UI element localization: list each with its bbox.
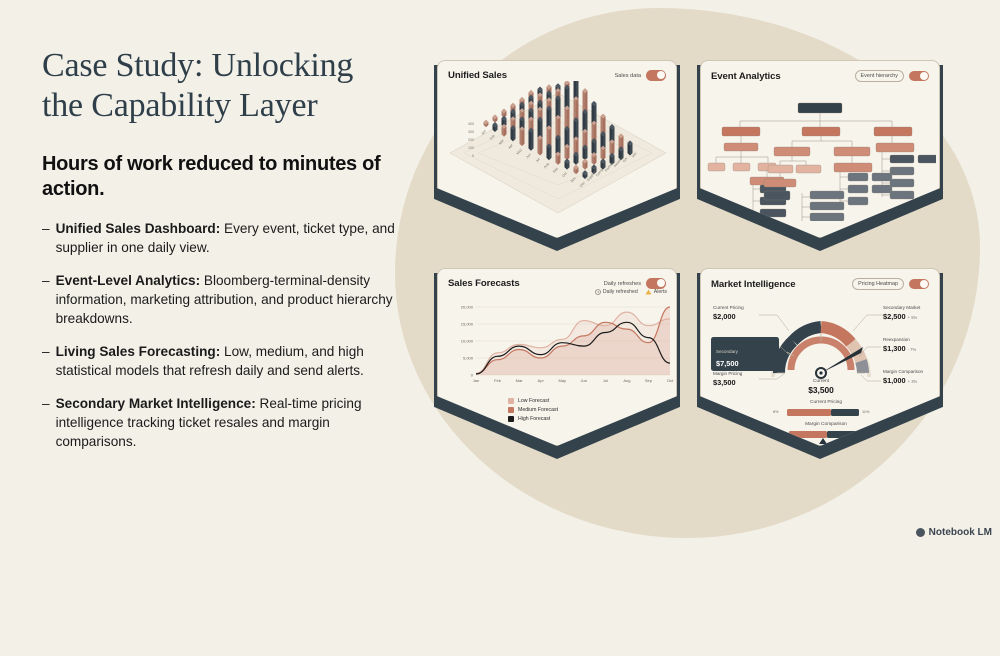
svg-text:Jun: Jun: [581, 378, 587, 383]
bullet-dash: –: [42, 272, 50, 328]
card-header-controls: Sales data: [615, 70, 666, 81]
forecast-legend: Low Forecast Medium Forecast High Foreca…: [508, 398, 558, 425]
metric-secondary-market: Secondary Market $2,500+ 5%: [883, 305, 920, 321]
svg-text:0: 0: [471, 372, 474, 377]
metric-value-text: $1,000: [883, 376, 906, 385]
metric-label: Margin Comparison: [883, 369, 923, 374]
list-item: – Secondary Market Intelligence: Real-ti…: [42, 395, 402, 451]
metric-label: Secondary Market: [883, 305, 920, 310]
metric-current-pricing: Current Pricing $2,000: [713, 305, 744, 321]
metric-secondary-highlight: Secondary $7,500: [711, 337, 779, 371]
legend-swatch-high: [508, 416, 514, 422]
metric-value-text: $1,300: [883, 344, 906, 353]
daily-refresh-toggle[interactable]: [646, 278, 666, 289]
feature-bullet-list: – Unified Sales Dashboard: Every event, …: [42, 220, 402, 451]
card-header-controls: Daily refreshes: [604, 278, 666, 289]
legend-swatch-low: [508, 398, 514, 404]
event-hierarchy-toggle[interactable]: [909, 71, 929, 82]
svg-text:20,000: 20,000: [461, 304, 474, 309]
svg-text:10,000: 10,000: [461, 338, 474, 343]
metric-value: $2,500+ 5%: [883, 312, 920, 321]
notebooklm-logo-icon: [916, 528, 925, 537]
svg-text:15,000: 15,000: [461, 321, 474, 326]
metric-label: Margin Pricing: [713, 371, 742, 376]
bullet-dash: –: [42, 395, 50, 451]
metric-margin-pricing: Margin Pricing $3,500: [713, 371, 742, 387]
bullet-text: Living Sales Forecasting: Low, medium, a…: [56, 343, 402, 380]
bullet-lead: Living Sales Forecasting:: [56, 344, 221, 359]
dashboard-card-grid: Unified Sales Sales data 400 300 200 100…: [437, 60, 957, 470]
metric-label: Secondary: [716, 349, 738, 354]
svg-text:300: 300: [468, 130, 474, 134]
legend-swatch-medium: [508, 407, 514, 413]
svg-text:100: 100: [468, 146, 474, 150]
svg-text:5,000: 5,000: [463, 355, 474, 360]
svg-text:Apr: Apr: [538, 378, 545, 383]
metric-value: $1,000+ 3%: [883, 376, 931, 385]
status-alerts-label: Alerts: [654, 289, 667, 295]
card-number: 1: [437, 228, 443, 240]
page-title: Case Study: Unlocking the Capability Lay…: [42, 46, 402, 126]
status-daily-refreshed-label: Daily refreshed: [603, 289, 638, 295]
bar-max-tick: 11%: [862, 410, 869, 414]
watermark-label: Notebook LM: [929, 527, 992, 538]
legend-item-medium: Medium Forecast: [508, 407, 558, 413]
legend-label-low: Low Forecast: [518, 398, 549, 404]
list-item: – Event-Level Analytics: Bloomberg-termi…: [42, 272, 402, 328]
metric-delta: - 7%: [908, 347, 917, 352]
toggle-label: Daily refreshes: [604, 281, 641, 287]
legend-label-medium: Medium Forecast: [518, 407, 558, 413]
gauge-center-readout: Current $3,500: [796, 379, 846, 395]
legend-item-low: Low Forecast: [508, 398, 558, 404]
bullet-dash: –: [42, 220, 50, 257]
card-title: Event Analytics: [711, 71, 781, 82]
sales-forecast-line-chart: 20,00015,00010,0005,0000 JanFebMarAprMay…: [442, 299, 674, 399]
svg-text:Feb: Feb: [494, 378, 502, 383]
card-title: Sales Forecasts: [448, 278, 520, 289]
status-daily-refreshed: Daily refreshed: [595, 289, 638, 295]
metric-value: $1,300- 7%: [883, 344, 916, 353]
gauge-center-value: $3,500: [796, 385, 846, 395]
card-number: 3: [437, 644, 443, 656]
bullet-lead: Event-Level Analytics:: [56, 273, 201, 288]
status-alerts: Alerts: [645, 289, 667, 295]
watermark: Notebook LM: [916, 527, 992, 538]
card-header: Unified Sales Sales data: [448, 70, 666, 81]
metric-label: Current Pricing: [713, 305, 744, 310]
metric-delta: + 3%: [908, 379, 918, 384]
svg-text:200: 200: [468, 138, 474, 142]
event-hierarchy-tree-chart: [706, 81, 936, 221]
metric-label: Reexpansion: [883, 337, 910, 342]
metric-value: $2,000: [713, 312, 744, 321]
metric-value: $7,500: [716, 359, 774, 368]
svg-text:Oct: Oct: [667, 378, 674, 383]
card-number: 4: [963, 644, 969, 656]
bullet-text: Unified Sales Dashboard: Every event, ti…: [56, 220, 402, 257]
svg-text:Jan: Jan: [473, 378, 479, 383]
card-header: Sales Forecasts Daily refreshes: [448, 278, 666, 289]
svg-text:May: May: [558, 378, 566, 383]
metric-margin-comparison: Margin Comparison $1,000+ 3%: [883, 369, 931, 385]
svg-text:0: 0: [472, 154, 474, 158]
svg-text:Sep: Sep: [645, 378, 653, 383]
svg-text:Mar: Mar: [516, 378, 524, 383]
list-item: – Unified Sales Dashboard: Every event, …: [42, 220, 402, 257]
gauge-center-label: Current: [813, 379, 829, 384]
card-title: Unified Sales: [448, 70, 507, 81]
bullet-text: Event-Level Analytics: Bloomberg-termina…: [56, 272, 402, 328]
svg-text:Jul: Jul: [603, 378, 608, 383]
bullet-dash: –: [42, 343, 50, 380]
bullet-lead: Unified Sales Dashboard:: [56, 221, 221, 236]
legend-label-high: High Forecast: [518, 416, 550, 422]
metric-reexpansion: Reexpansion $1,300- 7%: [883, 337, 916, 353]
sales-data-toggle[interactable]: [646, 70, 666, 81]
slide-text-column: Case Study: Unlocking the Capability Lay…: [42, 46, 402, 466]
metric-value-text: $2,500: [883, 312, 906, 321]
clock-icon: [595, 289, 601, 295]
bar-label-current-pricing: Current Pricing: [781, 400, 871, 405]
bullet-text: Secondary Market Intelligence: Real-time…: [56, 395, 402, 451]
legend-item-high: High Forecast: [508, 416, 558, 422]
metric-delta: + 5%: [908, 315, 918, 320]
list-item: – Living Sales Forecasting: Low, medium,…: [42, 343, 402, 380]
alert-triangle-icon: [645, 289, 652, 295]
slide-subtitle: Hours of work reduced to minutes of acti…: [42, 152, 402, 202]
unified-sales-3d-bar-chart: 400 300 200 100 0 JanFebMarAprMayJunJulA…: [444, 81, 672, 221]
svg-text:400: 400: [468, 122, 474, 126]
svg-text:Aug: Aug: [623, 378, 630, 383]
toggle-label: Sales data: [615, 73, 641, 79]
bar-min-tick: 6%: [773, 410, 779, 414]
bar-label-margin-comparison: Margin Comparison: [781, 422, 871, 427]
metric-value: $3,500: [713, 378, 742, 387]
forecast-status-row: Daily refreshed Alerts: [595, 289, 667, 295]
bullet-lead: Secondary Market Intelligence:: [56, 396, 256, 411]
